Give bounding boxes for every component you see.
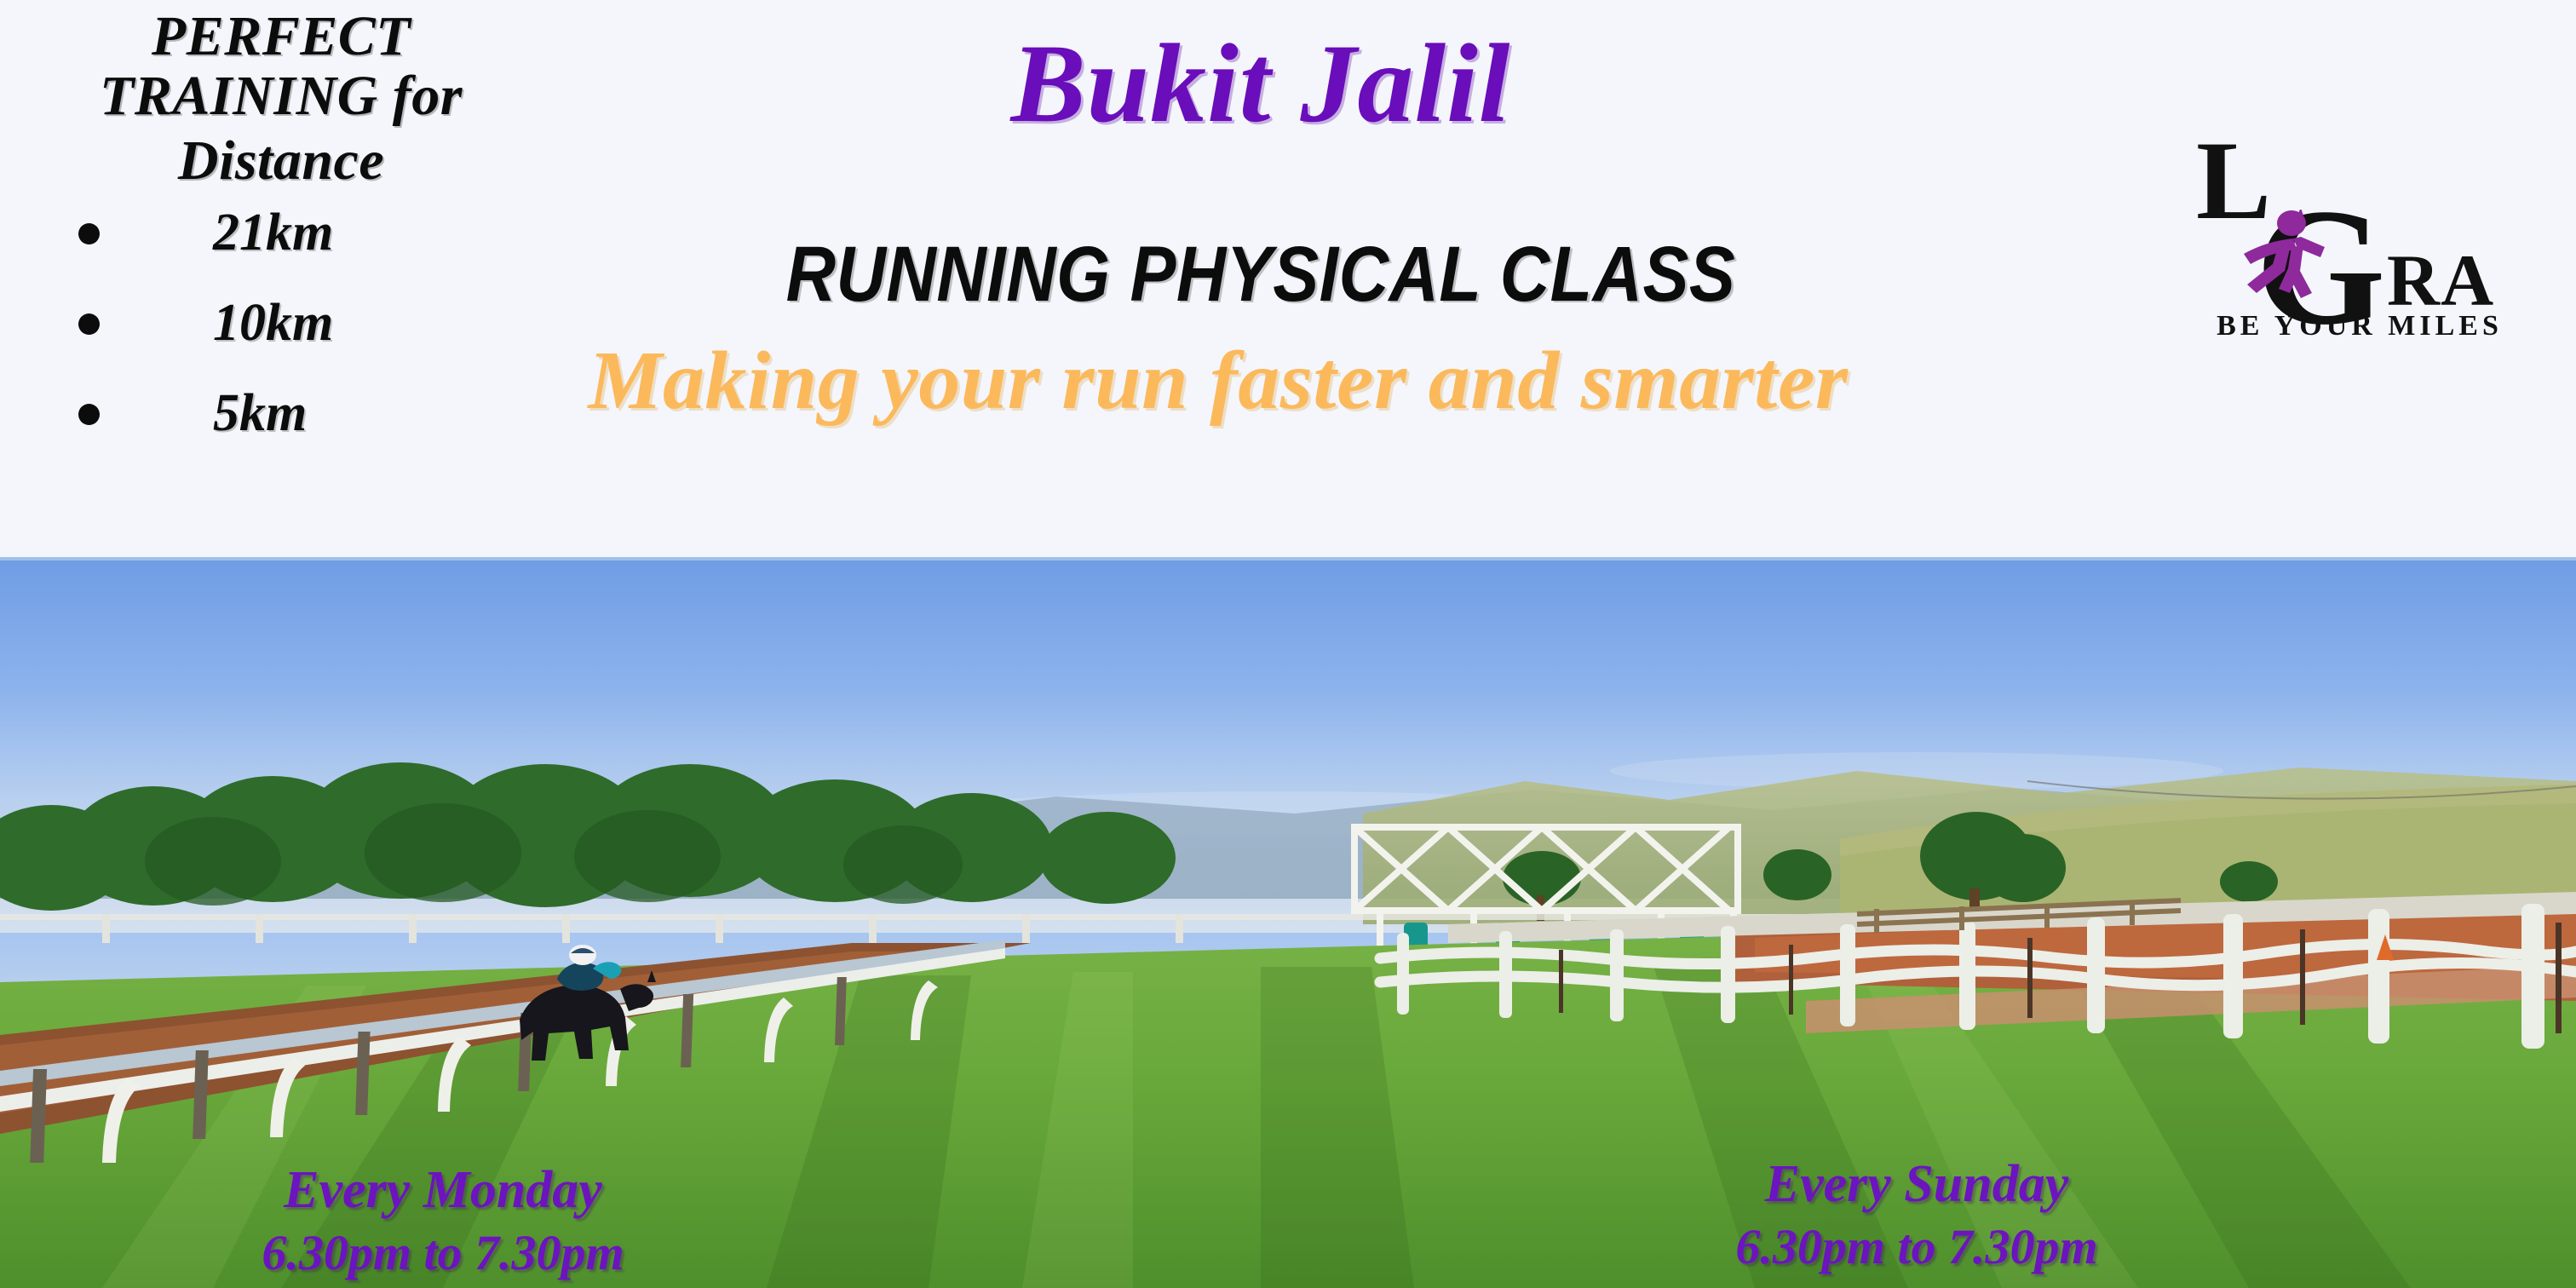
logo-mark: L G RA bbox=[2181, 109, 2539, 309]
logo-letters-ra: RA bbox=[2387, 244, 2494, 317]
list-item: 10km bbox=[43, 296, 545, 349]
schedule-day: Every Monday bbox=[153, 1159, 733, 1223]
schedule-time: 6.30pm to 7.30pm bbox=[1567, 1217, 2266, 1278]
tagline: Making your run faster and smarter bbox=[477, 339, 1959, 423]
page-subtitle: RUNNING PHYSICAL CLASS bbox=[676, 235, 1846, 313]
promo-banner: PERFECT TRAINING for Distance 21km 10km … bbox=[0, 0, 2576, 1288]
running-person-icon bbox=[2230, 210, 2366, 312]
logo-tagline: BE YOUR MILES bbox=[2181, 310, 2539, 342]
band-divider bbox=[0, 557, 2576, 561]
training-line-2: TRAINING for bbox=[17, 66, 545, 126]
brand-logo: L G RA BE YOUR MILES bbox=[2181, 109, 2539, 382]
training-line-1: PERFECT bbox=[17, 7, 545, 66]
header-band: PERFECT TRAINING for Distance 21km 10km … bbox=[0, 0, 2576, 560]
training-block: PERFECT TRAINING for Distance 21km 10km … bbox=[17, 7, 545, 477]
distance-list: 21km 10km 5km bbox=[17, 206, 545, 440]
racetrack-photo: Every Monday 6.30pm to 7.30pm Every Thur… bbox=[0, 558, 2576, 1288]
training-line-3: Distance bbox=[17, 131, 545, 191]
schedule-time: 6.30pm to 7.30pm bbox=[153, 1223, 733, 1284]
schedule-sunday: Every Sunday 6.30pm to 7.30pm bbox=[1567, 1153, 2266, 1277]
schedule-monday: Every Monday 6.30pm to 7.30pm bbox=[153, 1159, 733, 1283]
page-title: Bukit Jalil bbox=[596, 27, 1925, 140]
list-item: 21km bbox=[43, 206, 545, 259]
list-item: 5km bbox=[43, 387, 545, 440]
schedule-day: Every Sunday bbox=[1567, 1153, 2266, 1217]
